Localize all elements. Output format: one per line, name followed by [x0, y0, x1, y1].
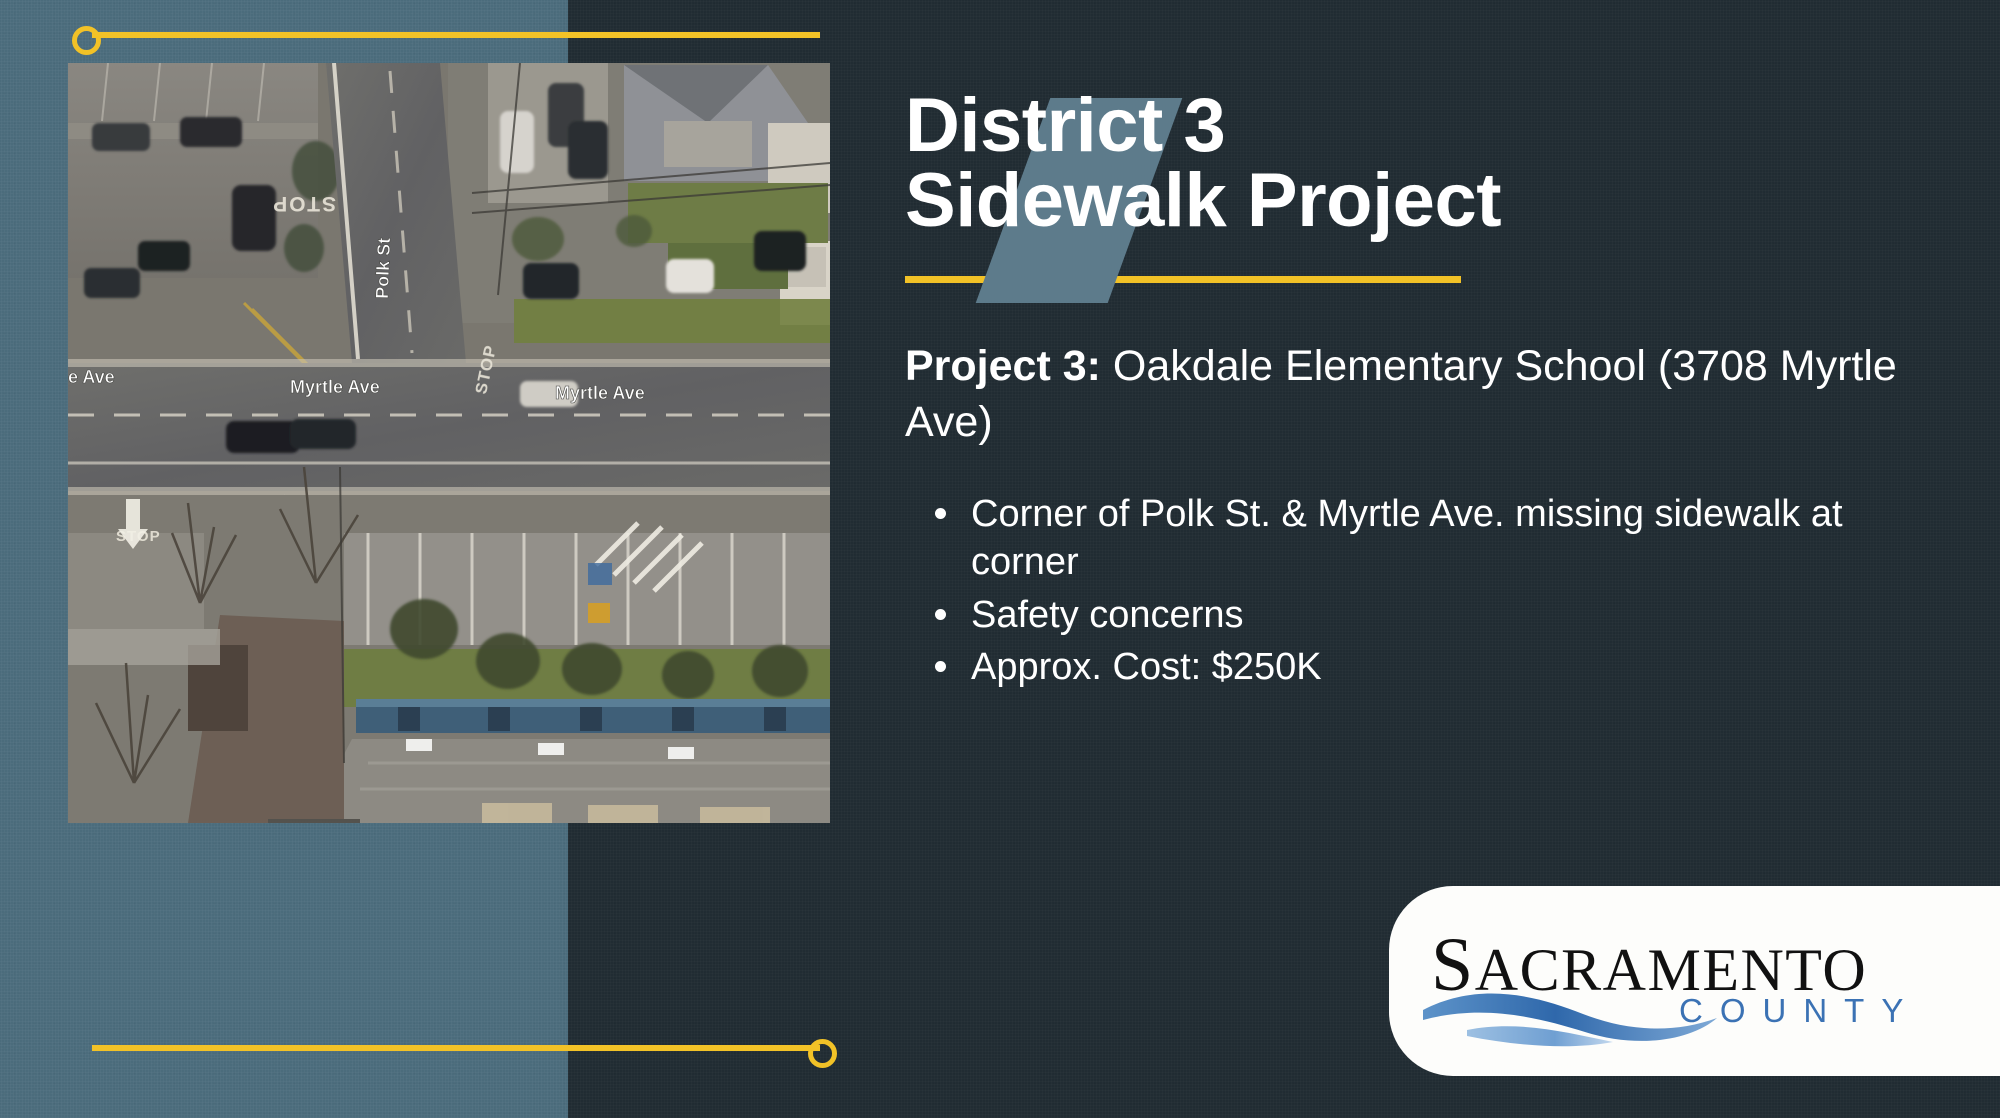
svg-text:Myrtle Ave: Myrtle Ave: [290, 377, 380, 397]
decorative-rule-bottom: [92, 1045, 820, 1051]
bullet-dot-icon: [935, 609, 946, 620]
page-title: District 3 Sidewalk Project: [905, 88, 1935, 238]
list-item: Corner of Polk St. & Myrtle Ave. missing…: [971, 490, 1935, 587]
aerial-photo-image: STOP STOP STOP Polk St e Ave Myrtle Ave …: [68, 63, 830, 823]
bullet-dot-icon: [935, 508, 946, 519]
bullet-text: Approx. Cost: $250K: [971, 646, 1322, 688]
bullet-dot-icon: [935, 661, 946, 672]
bullet-text: Safety concerns: [971, 594, 1243, 636]
bullet-text: Corner of Polk St. & Myrtle Ave. missing…: [971, 493, 1843, 584]
logo-subtitle: COUNTY: [1679, 992, 1920, 1030]
decorative-dot-bottom-right: [808, 1039, 837, 1068]
bullet-list: Corner of Polk St. & Myrtle Ave. missing…: [905, 490, 1935, 693]
slide-content: District 3 Sidewalk Project Project 3: O…: [905, 80, 1935, 696]
title-block: District 3 Sidewalk Project: [905, 80, 1935, 283]
sacramento-county-logo: SACRAMENTO COUNTY: [1389, 886, 2000, 1076]
list-item: Approx. Cost: $250K: [971, 643, 1935, 692]
project-description: Project 3: Oakdale Elementary School (37…: [905, 339, 1935, 449]
title-line-2: Sidewalk Project: [905, 163, 1935, 238]
project-label: Project 3:: [905, 342, 1101, 390]
logo-wordmark-initial: S: [1431, 923, 1475, 1007]
svg-text:Myrtle Ave: Myrtle Ave: [555, 383, 645, 403]
list-item: Safety concerns: [971, 591, 1935, 640]
presentation-slide: STOP STOP STOP Polk St e Ave Myrtle Ave …: [0, 0, 2000, 1118]
svg-text:Polk St: Polk St: [372, 237, 394, 299]
decorative-rule-top: [92, 32, 820, 38]
svg-text:e Ave: e Ave: [68, 367, 115, 387]
decorative-dot-top-left: [72, 26, 101, 55]
title-line-1: District 3: [905, 88, 1935, 163]
aerial-photo: STOP STOP STOP Polk St e Ave Myrtle Ave …: [68, 63, 830, 823]
svg-text:STOP: STOP: [271, 192, 336, 215]
logo-inner: SACRAMENTO COUNTY: [1431, 910, 1991, 1050]
